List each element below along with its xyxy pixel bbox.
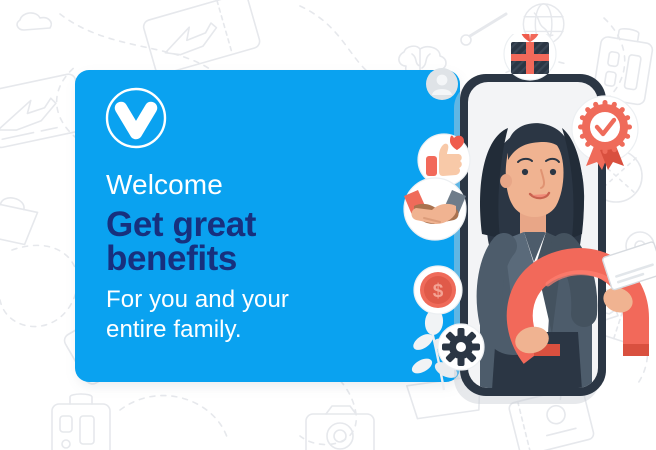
banner-canvas: Welcome Get great benefits For you and y… xyxy=(0,0,656,450)
v-check-logo-icon xyxy=(105,87,167,149)
thumbs-up-icon xyxy=(418,134,470,186)
subtitle-text: For you and your entire family. xyxy=(106,285,289,346)
gift-box-icon xyxy=(504,34,556,80)
welcome-label: Welcome xyxy=(106,171,223,199)
user-avatar-icon xyxy=(426,68,458,100)
dollar-coin-icon: $ xyxy=(414,266,462,314)
gear-settings-icon xyxy=(438,324,484,370)
paper-card xyxy=(602,241,656,290)
handshake-icon xyxy=(404,178,466,240)
page-title: Get great benefits xyxy=(106,208,256,276)
svg-text:$: $ xyxy=(433,281,444,302)
hero-illustration: $ xyxy=(396,34,656,414)
